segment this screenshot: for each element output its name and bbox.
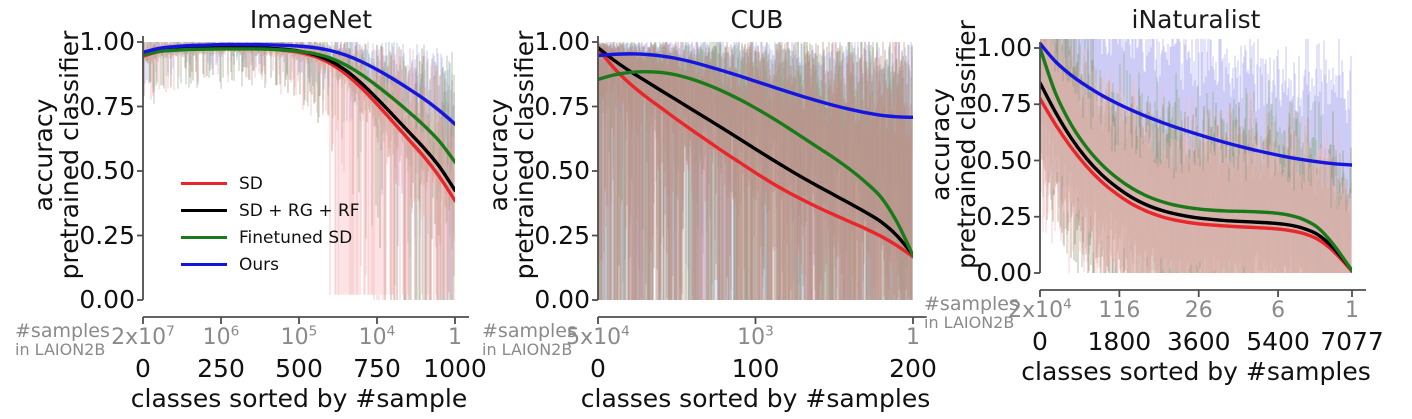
y-axis-label-line1: accuracy	[486, 6, 512, 304]
y-axis-label: accuracypretrained classifier	[486, 6, 537, 304]
y-axis-label-line2: pretrained classifier	[954, 12, 980, 277]
y-axis-label-line1: accuracy	[928, 12, 954, 277]
legend-label-1: SD + RG + RF	[239, 201, 360, 221]
legend: SDSD + RG + RFFinetuned SDOurs	[181, 170, 360, 278]
x-tick-label-100: 100	[696, 354, 816, 383]
chart-panel-imagenet: ImageNet0.000.250.500.751.00accuracypret…	[0, 0, 470, 419]
chart-panel-cub: CUB0.000.250.500.751.00accuracypretraine…	[470, 0, 940, 419]
panel-title: ImageNet	[221, 5, 401, 34]
y-axis-label-line2: pretrained classifier	[57, 6, 83, 304]
legend-label-2: Finetuned SD	[239, 228, 352, 248]
x-tick-label-7077: 7077	[1292, 327, 1412, 356]
legend-swatch-3	[181, 263, 227, 266]
legend-item-sd-rg-rf[interactable]: SD + RG + RF	[181, 197, 360, 224]
y-axis-label-line1: accuracy	[31, 6, 57, 304]
x-tick-gray-1: 103	[696, 325, 816, 350]
legend-label-3: Ours	[239, 255, 279, 275]
legend-item-sd[interactable]: SD	[181, 170, 360, 197]
x-axis-label: classes sorted by #samples	[980, 357, 1412, 386]
legend-label-0: SD	[239, 174, 263, 194]
x-tick-gray-4: 1	[1292, 298, 1412, 323]
legend-swatch-1	[181, 209, 227, 212]
y-axis-label: accuracypretrained classifier	[31, 6, 82, 304]
legend-item-ours[interactable]: Ours	[181, 251, 360, 278]
x-tick-gray-0: 5x104	[538, 325, 658, 350]
x-tick-label-0: 0	[538, 354, 658, 383]
y-axis-label: accuracypretrained classifier	[928, 12, 979, 277]
x-axis-label: classes sorted by #sample	[83, 384, 515, 413]
legend-item-finetuned-sd[interactable]: Finetuned SD	[181, 224, 360, 251]
legend-swatch-2	[181, 236, 227, 239]
x-axis-label: classes sorted by #samples	[538, 384, 973, 413]
panel-title: CUB	[667, 5, 847, 34]
figure-panels: ImageNet0.000.250.500.751.00accuracypret…	[0, 0, 1412, 419]
legend-swatch-0	[181, 182, 227, 185]
y-axis-label-line2: pretrained classifier	[512, 6, 538, 304]
panel-title: iNaturalist	[1106, 5, 1286, 34]
chart-panel-inaturalist: iNaturalist0.000.250.500.751.00accuracyp…	[940, 0, 1412, 419]
